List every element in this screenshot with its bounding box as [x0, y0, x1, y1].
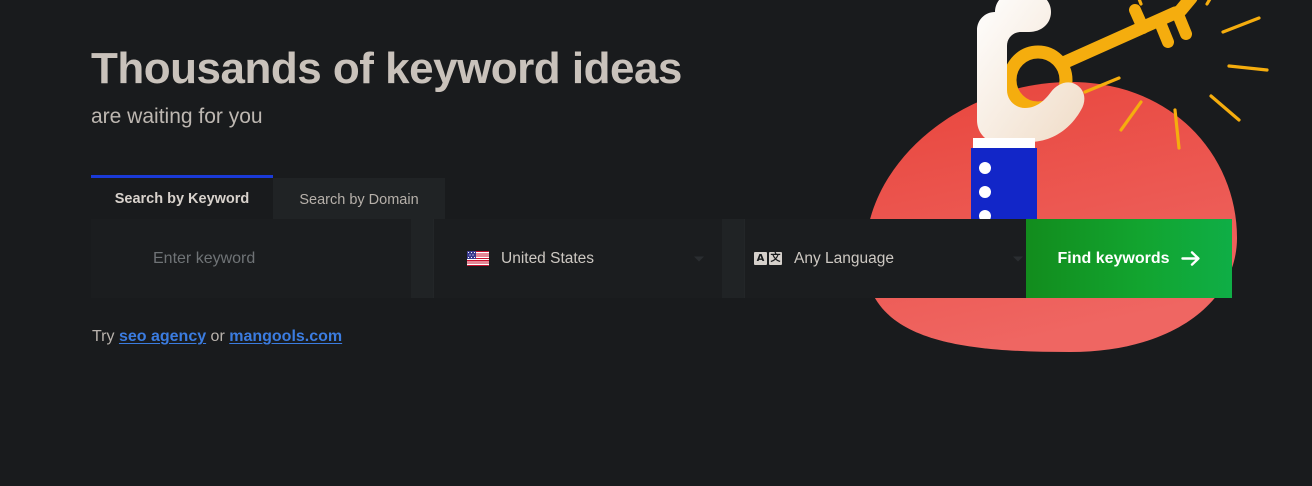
- us-flag-icon: [467, 251, 489, 266]
- suggested-searches: Try seo agency or mangools.com: [92, 328, 342, 346]
- sparkle-rays-icon: [1085, 0, 1267, 148]
- tab-search-by-domain[interactable]: Search by Domain: [273, 178, 445, 222]
- hand-icon: [977, 0, 1084, 142]
- try-separator: or: [206, 328, 229, 345]
- country-selector[interactable]: United States: [434, 219, 722, 298]
- hand-holding-key-illustration: [845, 0, 1312, 370]
- search-bar-spacer-right: [722, 219, 744, 298]
- tab-search-by-keyword-label: Search by Keyword: [115, 191, 250, 207]
- translate-icon: A文: [754, 252, 782, 265]
- chevron-down-icon[interactable]: [694, 256, 704, 261]
- suggested-link-seo-agency[interactable]: seo agency: [119, 328, 206, 345]
- try-prefix: Try: [92, 328, 119, 345]
- country-selector-label: United States: [501, 250, 594, 268]
- page-subtitle: are waiting for you: [91, 105, 263, 129]
- chevron-down-icon[interactable]: [1013, 256, 1023, 261]
- language-selector[interactable]: A文 Any Language: [745, 219, 1041, 298]
- keyword-field[interactable]: [91, 219, 411, 298]
- arrow-right-icon: [1181, 250, 1201, 267]
- tab-search-by-domain-label: Search by Domain: [299, 192, 418, 208]
- language-selector-label: Any Language: [794, 250, 894, 268]
- suggested-link-mangools[interactable]: mangools.com: [229, 328, 342, 345]
- red-blob-icon: [865, 82, 1237, 352]
- search-bar-spacer-left: [411, 219, 433, 298]
- find-keywords-button-label: Find keywords: [1057, 250, 1169, 268]
- keyword-finder-hero: Thousands of keyword ideas are waiting f…: [0, 0, 1312, 486]
- search-mode-tabs: Search by Keyword Search by Domain: [91, 175, 445, 222]
- search-input[interactable]: [153, 250, 411, 268]
- key-icon: [1010, 0, 1191, 108]
- find-keywords-button[interactable]: Find keywords: [1026, 219, 1232, 298]
- page-title: Thousands of keyword ideas: [91, 46, 682, 92]
- tab-search-by-keyword[interactable]: Search by Keyword: [91, 175, 273, 219]
